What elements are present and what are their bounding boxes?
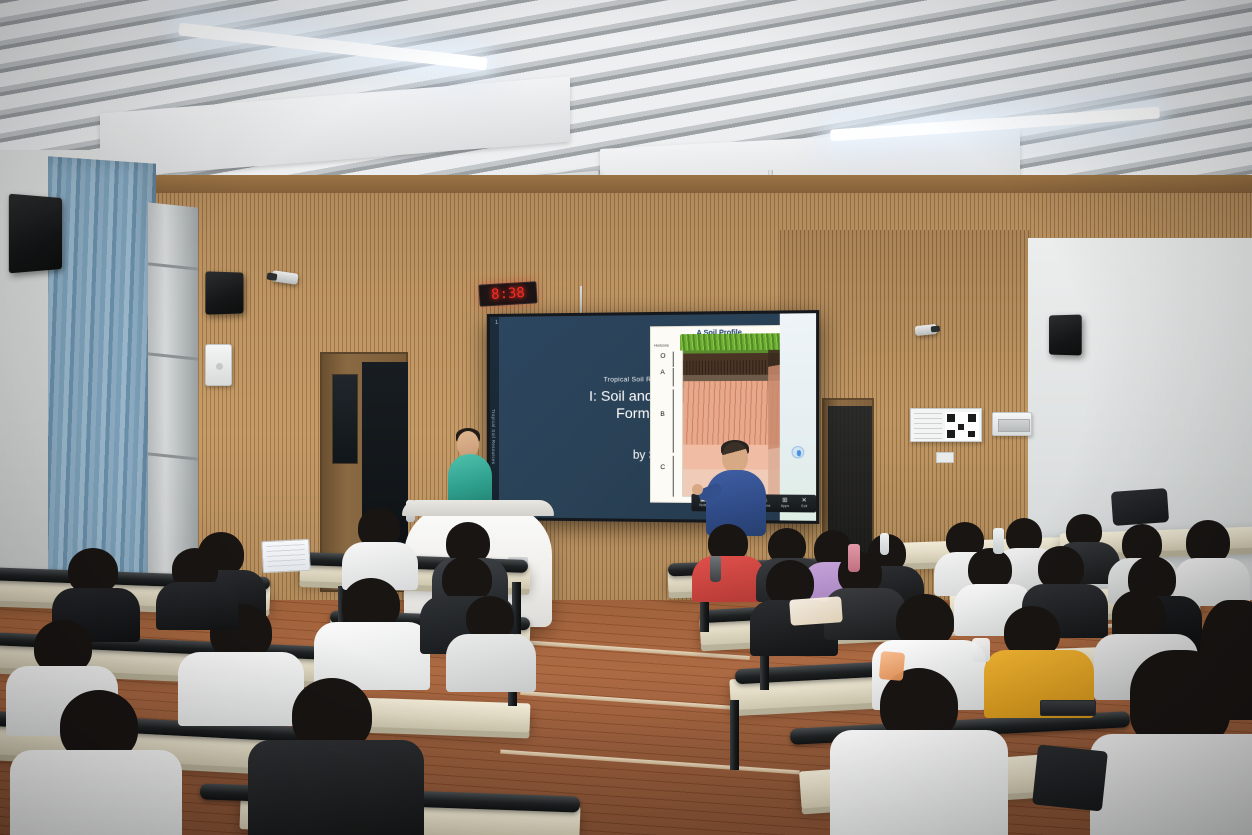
student-laptop[interactable]	[261, 539, 311, 573]
toolbar-button[interactable]: ✕ Exit	[797, 498, 812, 509]
soil-horizon-labels: Horizons O A B C	[654, 343, 677, 498]
desk-leg	[730, 700, 739, 770]
led-clock: 8:38	[478, 281, 537, 306]
toolbar-label-5: Exit	[801, 504, 807, 508]
slide-number: 1	[495, 320, 498, 326]
horizon-c: C	[660, 464, 665, 471]
water-bottle	[993, 528, 1004, 554]
board-side-panel[interactable]	[780, 313, 816, 521]
grass-layer	[680, 333, 787, 350]
water-bottle	[848, 544, 860, 572]
backpack	[1032, 745, 1108, 812]
clock-time: 8:38	[491, 285, 526, 303]
wall-speaker	[1049, 315, 1082, 356]
wall-notice-board	[910, 408, 982, 442]
horizon-a: A	[660, 369, 664, 376]
qr-code-icon	[945, 412, 979, 440]
wall-top-trim	[150, 175, 1252, 193]
milk-carton	[972, 638, 990, 662]
presentation-slide: Tropical Soil Resources 1 Tropical Soil …	[490, 313, 816, 521]
horizons-label: Horizons	[654, 343, 669, 347]
snack-bag	[789, 596, 843, 626]
water-drop-icon	[792, 446, 805, 458]
wall-plate	[936, 452, 954, 463]
tablet-device[interactable]	[1040, 700, 1096, 716]
lecture-hall-photo: 8:38 Tropical Soil Resources 1 Tropical …	[0, 0, 1252, 835]
projection-screen[interactable]: Tropical Soil Resources 1 Tropical Soil …	[487, 310, 819, 524]
toolbar-button[interactable]: ⊞ Apps	[777, 498, 792, 509]
backpack	[1111, 488, 1169, 526]
wall-control-panel[interactable]	[992, 412, 1032, 436]
wifi-access-point	[205, 344, 232, 386]
wall-speaker	[205, 271, 243, 314]
drink-cup	[879, 651, 905, 681]
toolbar-label-4: Apps	[781, 504, 789, 508]
wall-speaker	[9, 194, 62, 274]
water-bottle	[710, 556, 721, 582]
horizon-b: B	[660, 411, 664, 418]
presenter-hand	[692, 484, 703, 495]
slide-side-rail-text: Tropical Soil Resources	[491, 409, 496, 464]
water-bottle	[880, 533, 889, 555]
presenter-head	[722, 442, 748, 473]
horizon-o: O	[660, 353, 665, 360]
